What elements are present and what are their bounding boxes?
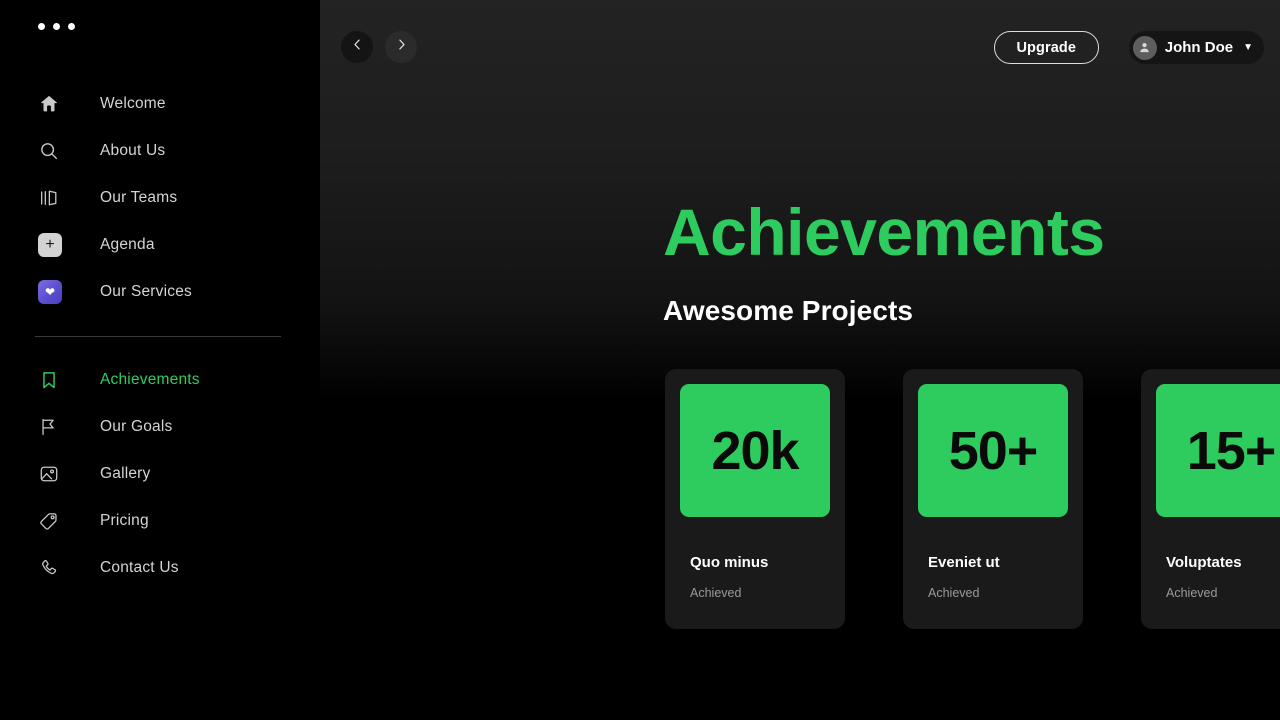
sidebar-item-label: Contact Us — [100, 559, 179, 577]
sidebar-item-our-services[interactable]: ❤ Our Services — [0, 268, 320, 315]
card-title: Quo minus — [690, 554, 830, 571]
sidebar-item-label: Gallery — [100, 465, 151, 483]
sidebar-item-label: Achievements — [100, 371, 200, 389]
sidebar-item-label: Our Services — [100, 283, 192, 301]
sidebar-item-welcome[interactable]: Welcome — [0, 80, 320, 127]
sidebar-item-label: Pricing — [100, 512, 149, 530]
image-icon — [38, 463, 72, 485]
achievement-card[interactable]: 50+ Eveniet ut Achieved — [903, 369, 1083, 629]
flag-icon — [38, 416, 72, 438]
tag-icon — [38, 510, 72, 532]
main-content: Upgrade John Doe ▼ Achievements Awesome … — [320, 0, 1280, 720]
chevron-left-icon — [350, 37, 365, 57]
upgrade-button[interactable]: Upgrade — [994, 31, 1099, 64]
back-button[interactable] — [341, 31, 373, 63]
sidebar-item-gallery[interactable]: Gallery — [0, 450, 320, 497]
window-dots — [38, 23, 75, 30]
achievement-card[interactable]: 20k Quo minus Achieved — [665, 369, 845, 629]
sidebar-item-contact-us[interactable]: Contact Us — [0, 544, 320, 591]
history-nav — [341, 31, 417, 63]
sidebar-nav-primary: Welcome About Us — [0, 80, 320, 315]
plus-icon: + — [38, 233, 72, 257]
sidebar-item-about-us[interactable]: About Us — [0, 127, 320, 174]
sidebar-item-our-teams[interactable]: Our Teams — [0, 174, 320, 221]
page-title: Achievements — [663, 199, 1105, 265]
sidebar: Welcome About Us — [0, 0, 320, 720]
card-value: 20k — [711, 424, 798, 478]
app-root: Welcome About Us — [0, 0, 1280, 720]
card-value-tile: 50+ — [918, 384, 1068, 517]
page-subtitle: Awesome Projects — [663, 294, 913, 328]
card-value: 15+ — [1187, 424, 1276, 478]
achievement-card[interactable]: 15+ Voluptates Achieved — [1141, 369, 1280, 629]
teams-icon — [38, 187, 72, 209]
plus-chip: + — [38, 233, 62, 257]
card-title: Eveniet ut — [928, 554, 1068, 571]
sidebar-item-label: Welcome — [100, 95, 166, 113]
card-status: Achieved — [928, 586, 1068, 600]
avatar — [1133, 36, 1157, 60]
user-menu[interactable]: John Doe ▼ — [1129, 31, 1264, 64]
sidebar-nav-secondary: Achievements Our Goals — [0, 356, 320, 591]
sidebar-item-label: About Us — [100, 142, 165, 160]
card-title: Voluptates — [1166, 554, 1280, 571]
search-icon — [38, 140, 72, 162]
sidebar-divider — [35, 336, 281, 337]
sidebar-item-our-goals[interactable]: Our Goals — [0, 403, 320, 450]
chevron-right-icon — [394, 37, 409, 57]
heart-chip: ❤ — [38, 280, 62, 304]
sidebar-item-label: Our Teams — [100, 189, 177, 207]
window-dot-3 — [68, 23, 75, 30]
achievement-cards: 20k Quo minus Achieved 50+ Eveniet ut Ac… — [665, 369, 1280, 629]
window-dot-2 — [53, 23, 60, 30]
heart-icon: ❤ — [38, 280, 72, 304]
sidebar-item-achievements[interactable]: Achievements — [0, 356, 320, 403]
card-value: 50+ — [949, 424, 1038, 478]
user-name: John Doe — [1165, 39, 1233, 56]
topbar-actions: Upgrade John Doe ▼ — [994, 31, 1264, 64]
card-value-tile: 20k — [680, 384, 830, 517]
card-status: Achieved — [1166, 586, 1280, 600]
sidebar-item-agenda[interactable]: + Agenda — [0, 221, 320, 268]
window-dot-1 — [38, 23, 45, 30]
sidebar-item-label: Our Goals — [100, 418, 172, 436]
phone-icon — [38, 557, 72, 579]
sidebar-item-label: Agenda — [100, 236, 155, 254]
bookmark-icon — [38, 369, 72, 391]
home-icon — [38, 93, 72, 115]
forward-button[interactable] — [385, 31, 417, 63]
topbar: Upgrade John Doe ▼ — [320, 0, 1280, 95]
card-status: Achieved — [690, 586, 830, 600]
chevron-down-icon: ▼ — [1243, 42, 1253, 53]
card-value-tile: 15+ — [1156, 384, 1280, 517]
sidebar-item-pricing[interactable]: Pricing — [0, 497, 320, 544]
